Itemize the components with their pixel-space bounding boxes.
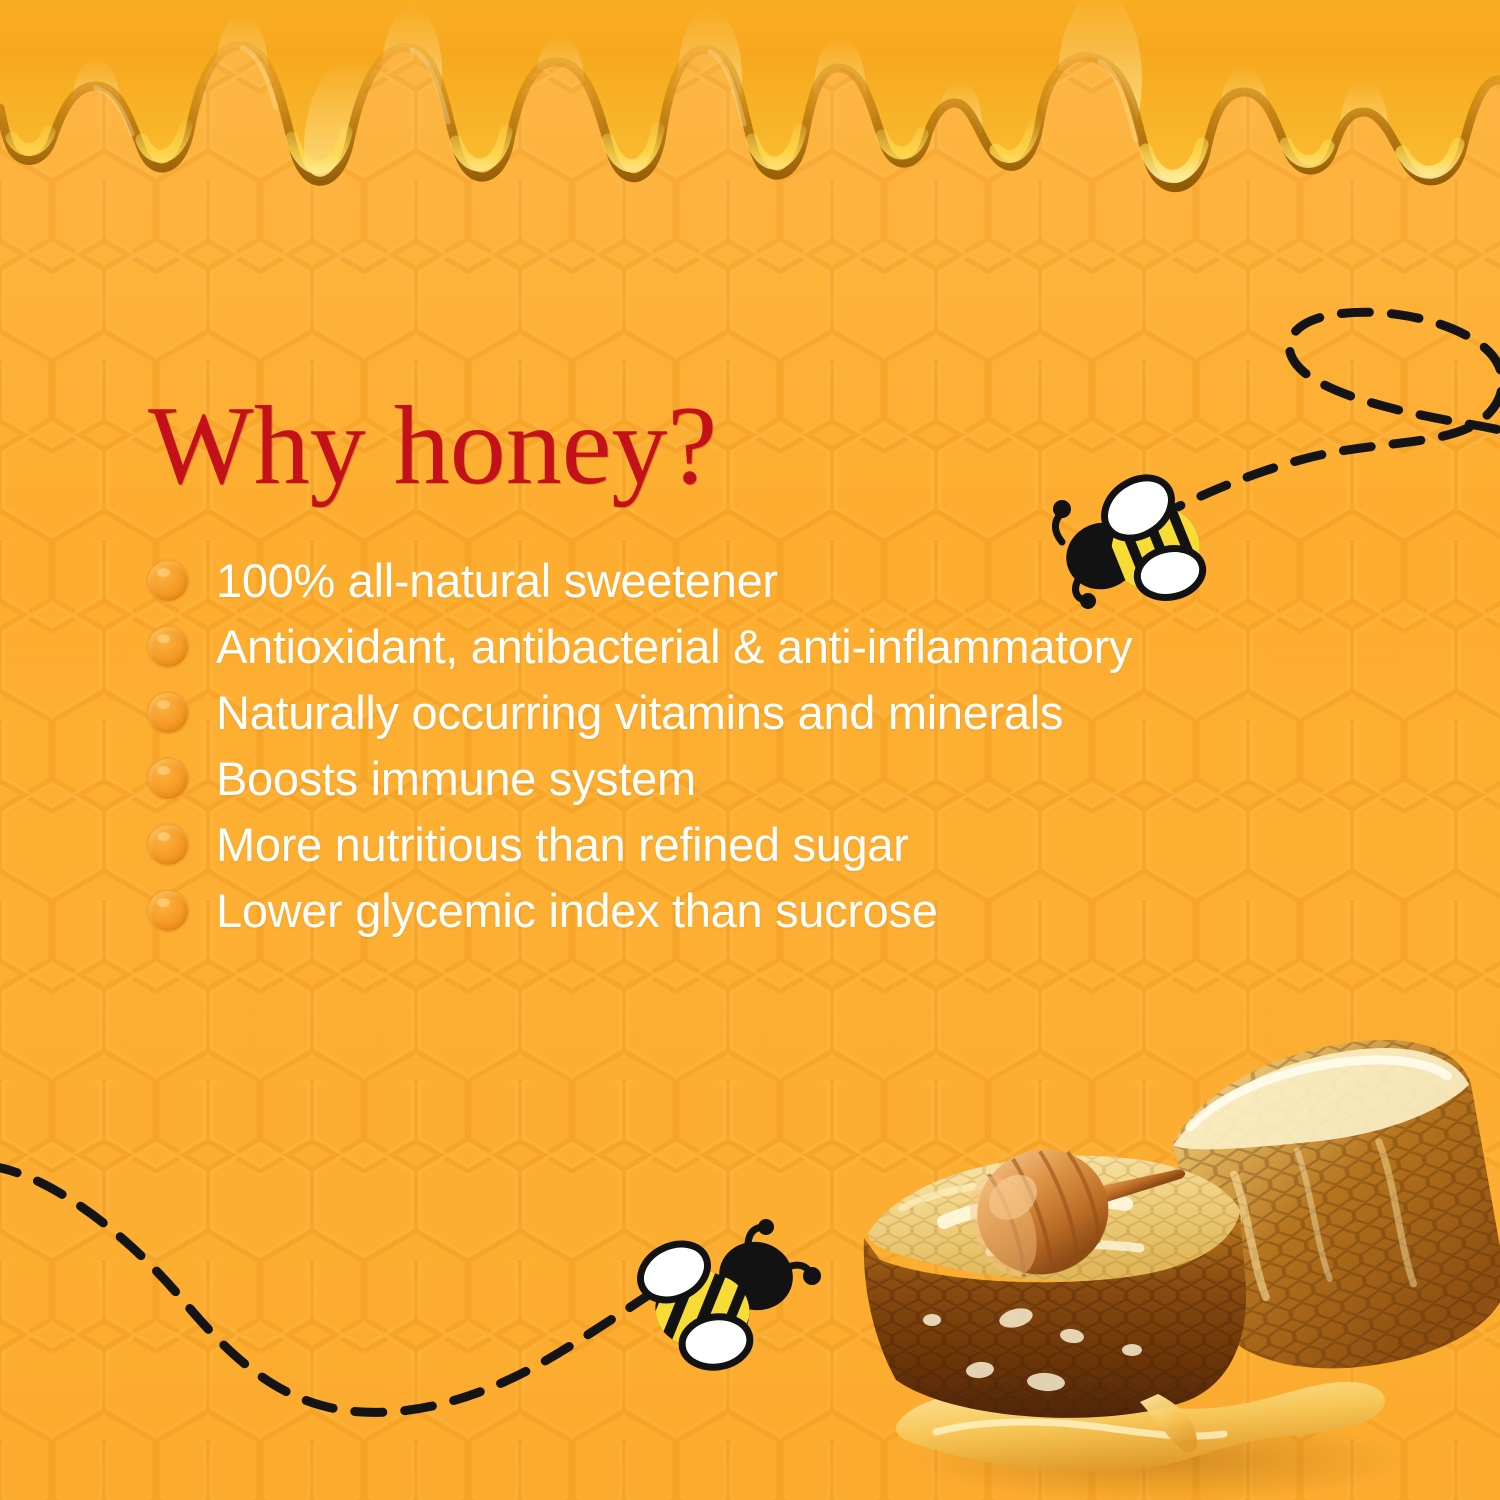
benefit-label: 100% all-natural sweetener <box>216 556 778 605</box>
honey-drop-bullet-icon <box>148 693 188 733</box>
honey-drop-bullet-icon <box>148 561 188 601</box>
benefit-label: Lower glycemic index than sucrose <box>216 886 938 935</box>
benefit-label: More nutritious than refined sugar <box>216 820 909 869</box>
bee-icon-top <box>1040 468 1220 610</box>
honey-drop-bullet-icon <box>148 825 188 865</box>
benefit-label: Antioxidant, antibacterial & anti-inflam… <box>216 622 1132 671</box>
list-item: Antioxidant, antibacterial & anti-inflam… <box>148 614 1398 680</box>
list-item: Boosts immune system <box>148 746 1398 812</box>
page-title: Why honey? <box>148 390 717 502</box>
list-item: Lower glycemic index than sucrose <box>148 878 1398 944</box>
honey-drop-bullet-icon <box>148 627 188 667</box>
benefit-label: Boosts immune system <box>216 754 696 803</box>
honey-infographic-panel: Why honey? 100% all-natural sweetener An… <box>0 0 1500 1500</box>
bee-icon-bottom <box>630 1218 830 1378</box>
benefit-label: Naturally occurring vitamins and mineral… <box>216 688 1063 737</box>
list-item: More nutritious than refined sugar <box>148 812 1398 878</box>
list-item: Naturally occurring vitamins and mineral… <box>148 680 1398 746</box>
honey-drop-bullet-icon <box>148 759 188 799</box>
honey-drop-bullet-icon <box>148 891 188 931</box>
